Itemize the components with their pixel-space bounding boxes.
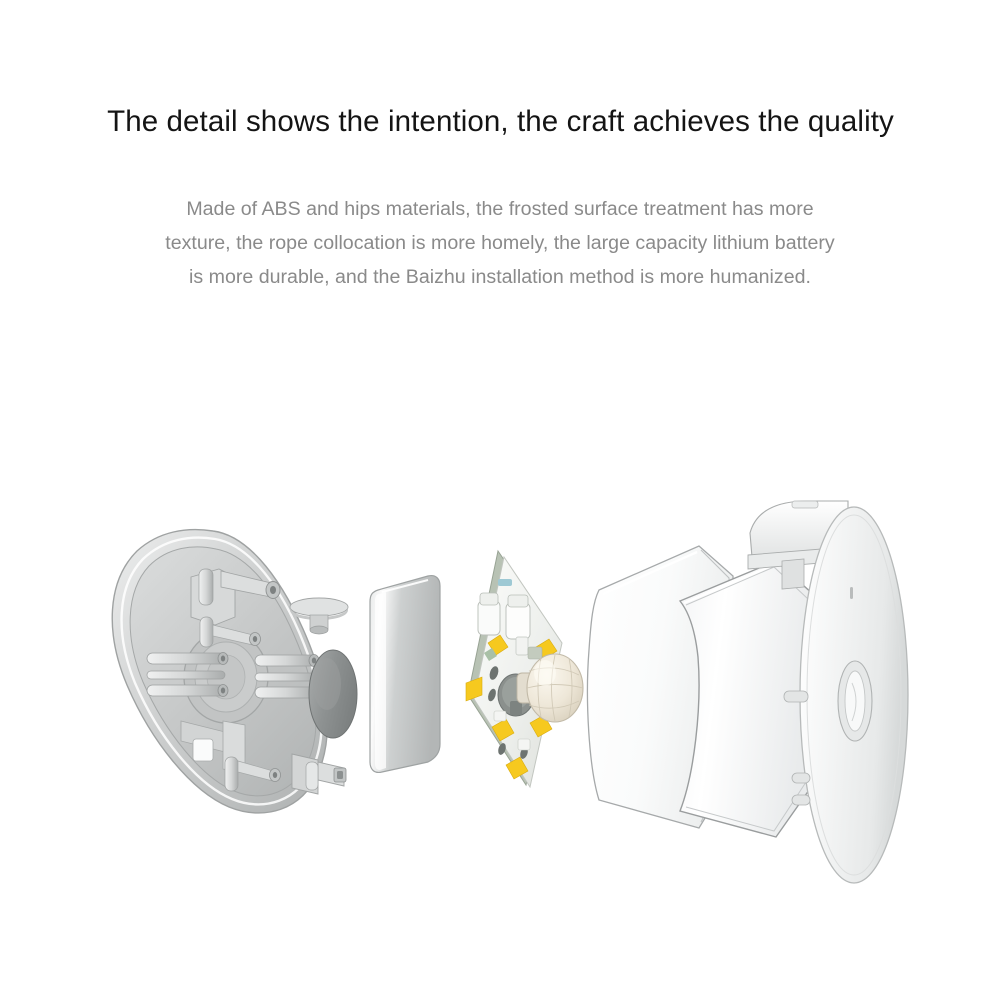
- part-pir-lens: [515, 645, 587, 731]
- part-mount-pin: [288, 595, 350, 639]
- product-detail-page: The detail shows the intention, the craf…: [0, 0, 1001, 1001]
- description-line-1: Made of ABS and hips materials, the fros…: [90, 192, 910, 226]
- description-line-2: texture, the rope collocation is more ho…: [90, 226, 910, 260]
- description-line-3: is more durable, and the Baizhu installa…: [90, 260, 910, 294]
- part-magnet-disc: [305, 648, 361, 740]
- part-l-bracket: [288, 750, 350, 798]
- exploded-product-diagram: [0, 465, 1001, 925]
- part-faceplate: [742, 495, 917, 895]
- page-title: The detail shows the intention, the craf…: [0, 104, 1001, 140]
- description-paragraph: Made of ABS and hips materials, the fros…: [90, 192, 910, 294]
